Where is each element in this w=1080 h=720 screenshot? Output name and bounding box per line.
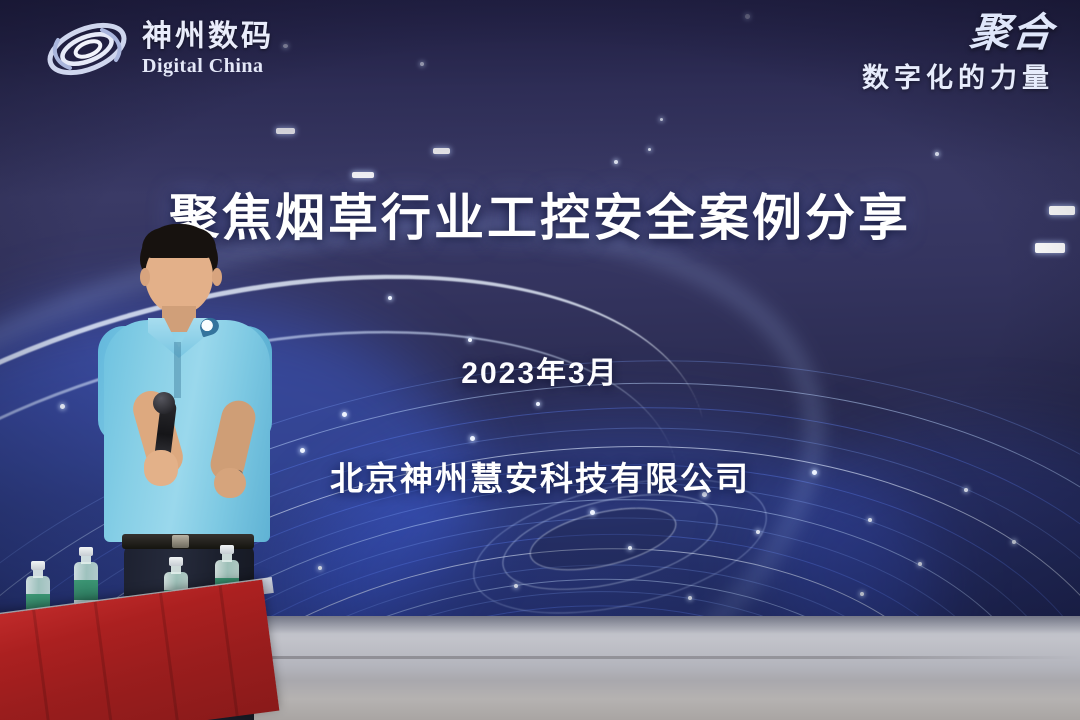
speaker-hair-fringe bbox=[142, 228, 216, 258]
speaker-placket bbox=[174, 342, 181, 398]
event-calligraphy: 聚合 bbox=[860, 14, 1056, 52]
conference-photo: 神州数码 Digital China 聚合 数字化的力量 聚焦烟草行业工控安全案… bbox=[0, 0, 1080, 720]
brand-name-cn: 神州数码 bbox=[142, 22, 274, 52]
speaker-belt-buckle bbox=[172, 535, 189, 548]
brand-name-en: Digital China bbox=[142, 56, 274, 76]
speaker bbox=[88, 222, 288, 622]
event-brand-mark: 聚合 数字化的力量 bbox=[862, 14, 1054, 95]
speaker-ear-left bbox=[140, 268, 150, 286]
speaker-ear-right bbox=[212, 268, 222, 286]
speaker-hand-right bbox=[214, 468, 246, 498]
digital-china-swirl-icon bbox=[44, 18, 130, 80]
speaker-hand-left bbox=[144, 450, 178, 486]
digital-china-logo: 神州数码 Digital China bbox=[44, 18, 274, 80]
event-tagline: 数字化的力量 bbox=[862, 56, 1054, 95]
